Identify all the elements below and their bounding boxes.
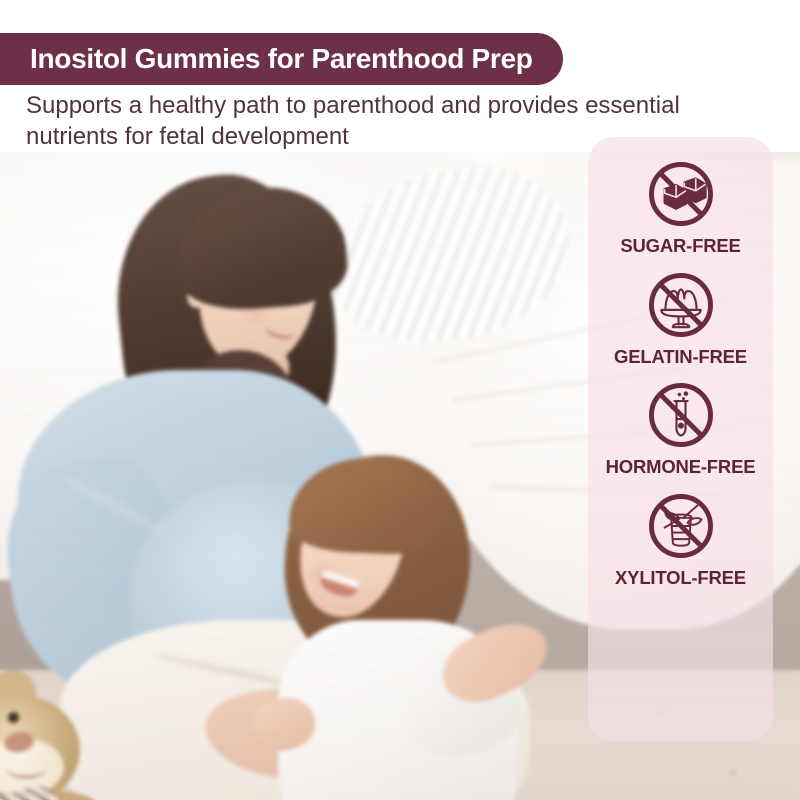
badge-hormone-free: HORMONE-FREE [588, 374, 773, 477]
badge-label: GELATIN-FREE [614, 348, 747, 367]
badge-sugar-free: SUGAR-FREE [588, 153, 773, 256]
teddy-bear-smile [6, 760, 46, 778]
badge-gelatin-free: GELATIN-FREE [588, 264, 773, 367]
teddy-bear-eye [8, 712, 19, 723]
page-title: Inositol Gummies for Parenthood Prep [30, 45, 533, 73]
no-sugar-cubes-icon [640, 153, 722, 235]
badge-label: HORMONE-FREE [606, 458, 756, 477]
product-infographic: Inositol Gummies for Parenthood Prep Sup… [0, 0, 800, 800]
header-area: Inositol Gummies for Parenthood Prep Sup… [0, 0, 800, 152]
no-gelatin-pudding-icon [640, 264, 722, 346]
badge-label: SUGAR-FREE [620, 237, 740, 256]
badge-label: XYLITOL-FREE [615, 569, 746, 588]
title-banner: Inositol Gummies for Parenthood Prep [0, 33, 563, 85]
no-xylitol-jar-icon [640, 485, 722, 567]
badge-xylitol-free: XYLITOL-FREE [588, 485, 773, 588]
rug-speck [730, 770, 736, 775]
no-hormone-test-tube-icon [640, 374, 722, 456]
claims-badge-panel: SUGAR-FREE GELATIN-FREE [588, 137, 773, 741]
